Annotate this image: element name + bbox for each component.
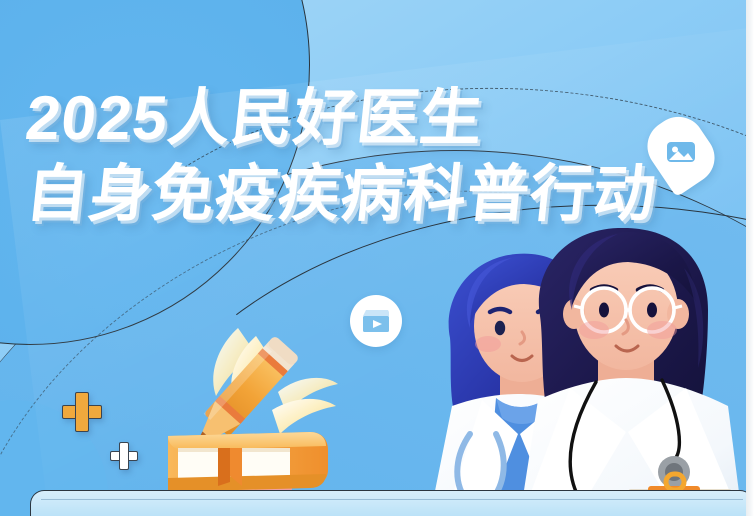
doctors-illustration [412,228,754,516]
pencil-book-illustration [160,300,370,515]
right-edge-gutter [746,0,754,516]
poster-title: 2025人民好医生 自身免疫疾病科普行动 [26,88,656,226]
title-line-2: 自身免疫疾病科普行动 [23,164,660,226]
video-clapperboard-icon: video-clapperboard-icon [350,295,402,347]
bottom-panel [30,490,754,516]
title-line-1: 2025人民好医生 [23,88,660,150]
plus-mark-white-icon: plus-mark-white [110,442,138,470]
plus-orange-label: plus-mark-orange [62,392,63,393]
bottom-panel-highlight [41,499,743,500]
plus-mark-orange-icon: plus-mark-orange [62,392,102,432]
poster-canvas: 2025人民好医生 自身免疫疾病科普行动 image-icon video-cl… [0,0,754,516]
plus-white-label: plus-mark-white [110,442,111,443]
